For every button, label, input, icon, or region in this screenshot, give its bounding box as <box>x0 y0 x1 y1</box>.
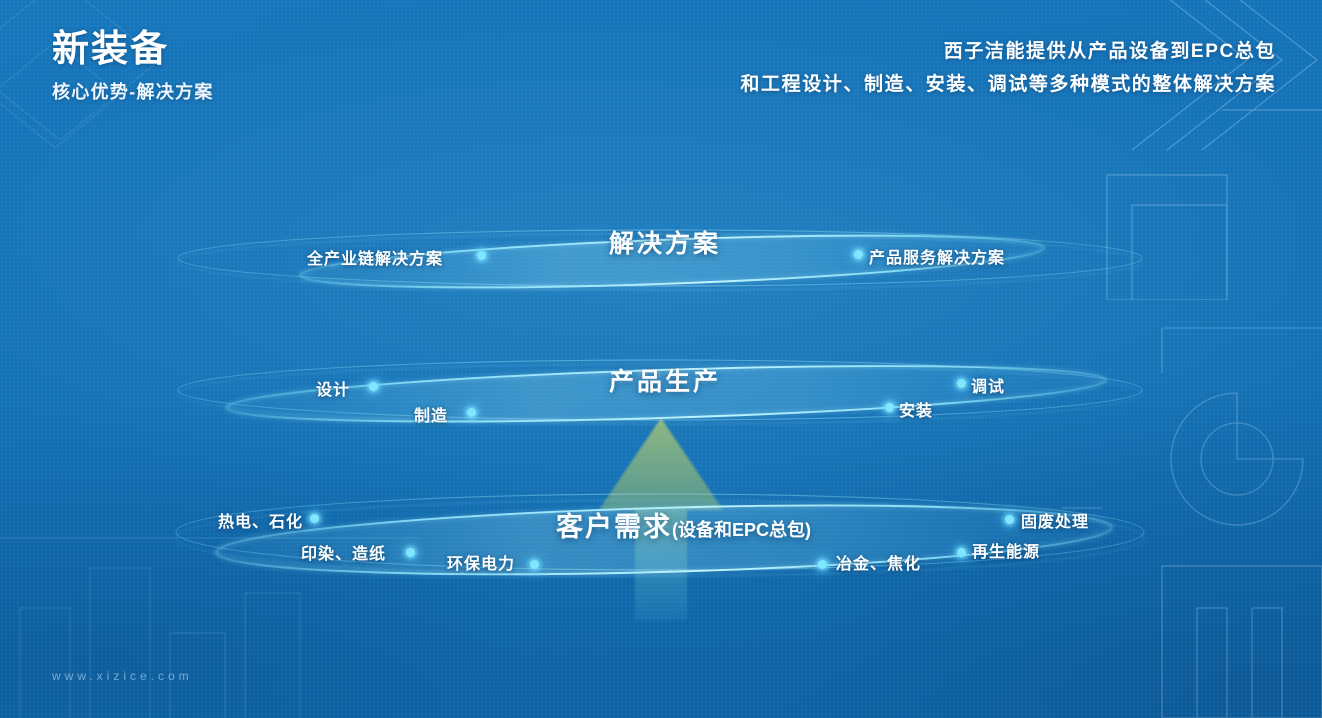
title-block: 新装备 核心优势-解决方案 <box>52 28 214 104</box>
node-dot-full-chain[interactable] <box>477 251 486 260</box>
pyramid-diagram: 解决方案 解决方案 产品生产 产品生产 客户需求(设备和EPC总包) 客户需求 … <box>0 150 1322 650</box>
node-label-installation[interactable]: 安装 <box>899 397 933 421</box>
node-label-printing-paper[interactable]: 印染、造纸 <box>301 540 386 564</box>
node-dot-printing-paper[interactable] <box>406 548 415 557</box>
node-dot-solid-waste[interactable] <box>1005 515 1014 524</box>
header-note: 西子洁能提供从产品设备到EPC总包 和工程设计、制造、安装、调试等多种模式的整体… <box>740 36 1276 101</box>
node-label-manufacture[interactable]: 制造 <box>414 402 448 426</box>
node-dot-design[interactable] <box>369 382 378 391</box>
node-label-product-service[interactable]: 产品服务解决方案 <box>869 244 1005 268</box>
node-label-renewable-energy[interactable]: 再生能源 <box>972 538 1040 562</box>
ring-title-demand-suffix: (设备和EPC总包) <box>672 516 811 542</box>
ring-title-production-reflection: 产品生产 <box>609 368 721 388</box>
node-label-eco-power[interactable]: 环保电力 <box>447 550 515 574</box>
header-note-line-1: 西子洁能提供从产品设备到EPC总包 <box>740 36 1276 69</box>
node-dot-manufacture[interactable] <box>467 408 476 417</box>
footer-url[interactable]: www.xizice.com <box>52 669 193 683</box>
node-dot-installation[interactable] <box>885 403 894 412</box>
node-dot-thermal-petrochemical[interactable] <box>310 514 319 523</box>
node-dot-metallurgy-coking[interactable] <box>818 560 827 569</box>
node-dot-product-service[interactable] <box>854 250 863 259</box>
node-label-thermal-petrochemical[interactable]: 热电、石化 <box>218 508 303 532</box>
node-label-design[interactable]: 设计 <box>316 376 350 400</box>
page-subtitle: 核心优势-解决方案 <box>52 78 214 104</box>
node-dot-eco-power[interactable] <box>530 560 539 569</box>
node-label-full-chain[interactable]: 全产业链解决方案 <box>307 245 443 269</box>
node-dot-renewable-energy[interactable] <box>957 548 966 557</box>
node-dot-commissioning[interactable] <box>957 379 966 388</box>
header-note-line-2: 和工程设计、制造、安装、调试等多种模式的整体解决方案 <box>740 69 1276 102</box>
node-label-solid-waste[interactable]: 固废处理 <box>1021 508 1089 532</box>
slide-header: 新装备 核心优势-解决方案 西子洁能提供从产品设备到EPC总包 和工程设计、制造… <box>0 0 1322 140</box>
node-label-metallurgy-coking[interactable]: 冶金、焦化 <box>836 550 921 574</box>
node-label-commissioning[interactable]: 调试 <box>971 373 1005 397</box>
slide-canvas: 新装备 核心优势-解决方案 西子洁能提供从产品设备到EPC总包 和工程设计、制造… <box>0 0 1322 718</box>
page-title: 新装备 <box>52 28 214 69</box>
ring-title-demand-reflection: 客户需求 <box>556 513 672 534</box>
ring-title-solution-reflection: 解决方案 <box>609 230 721 250</box>
